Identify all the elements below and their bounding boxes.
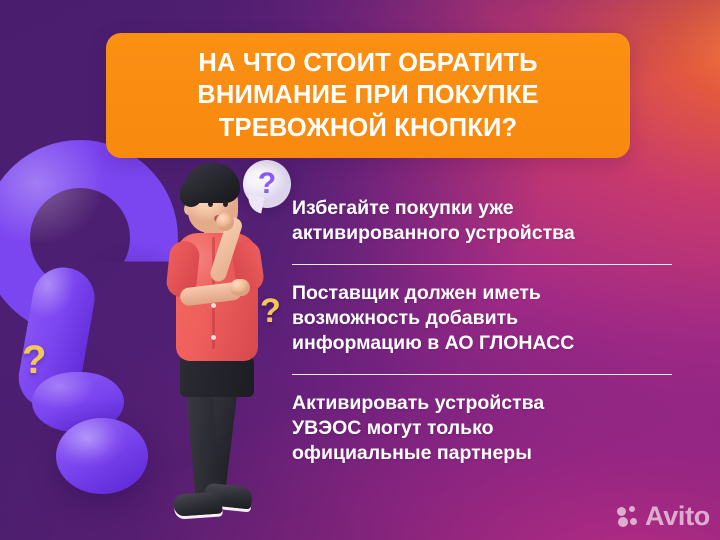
person-crossed-hand (230, 279, 250, 296)
question-mark-dot-icon (56, 418, 148, 494)
avito-logo-icon (617, 506, 640, 527)
person-shirt-button (211, 335, 216, 340)
avito-logo-circle (629, 506, 635, 512)
speech-bubble-icon: ? (243, 160, 291, 208)
list-item: Поставщик должен иметь возможность добав… (292, 281, 674, 357)
list-divider (292, 264, 672, 265)
avito-logo-circle (618, 517, 628, 527)
person-hand-on-chin (216, 213, 234, 231)
avito-logo-circle (617, 507, 626, 516)
avito-logo-circle (630, 518, 637, 525)
speech-bubble-question-mark: ? (243, 160, 291, 208)
person-left-eye (208, 201, 213, 207)
avito-watermark: Avito (617, 503, 710, 530)
person-right-eye (223, 201, 228, 207)
advice-list: Избегайте покупки уже активированного ус… (292, 196, 674, 467)
person-front-shoe-icon (173, 491, 222, 516)
list-item: Избегайте покупки уже активированного ус… (292, 196, 674, 247)
list-item: Активировать устройства УВЭОС могут толь… (292, 391, 674, 467)
avito-wordmark: Avito (645, 503, 710, 530)
gold-question-mark-left-icon: ? (22, 340, 46, 380)
thinking-person-illustration (160, 163, 280, 533)
person-hair (184, 163, 240, 203)
poster-canvas: ? ? ? НА ЧТО СТОИТ ОБРАТИТЬ ВНИМАНИЕ ПРИ… (0, 0, 720, 540)
list-divider (292, 374, 672, 375)
person-shirt-button (211, 303, 216, 308)
headline-title: НА ЧТО СТОИТ ОБРАТИТЬ ВНИМАНИЕ ПРИ ПОКУП… (181, 47, 555, 144)
headline-banner: НА ЧТО СТОИТ ОБРАТИТЬ ВНИМАНИЕ ПРИ ПОКУП… (106, 33, 630, 158)
